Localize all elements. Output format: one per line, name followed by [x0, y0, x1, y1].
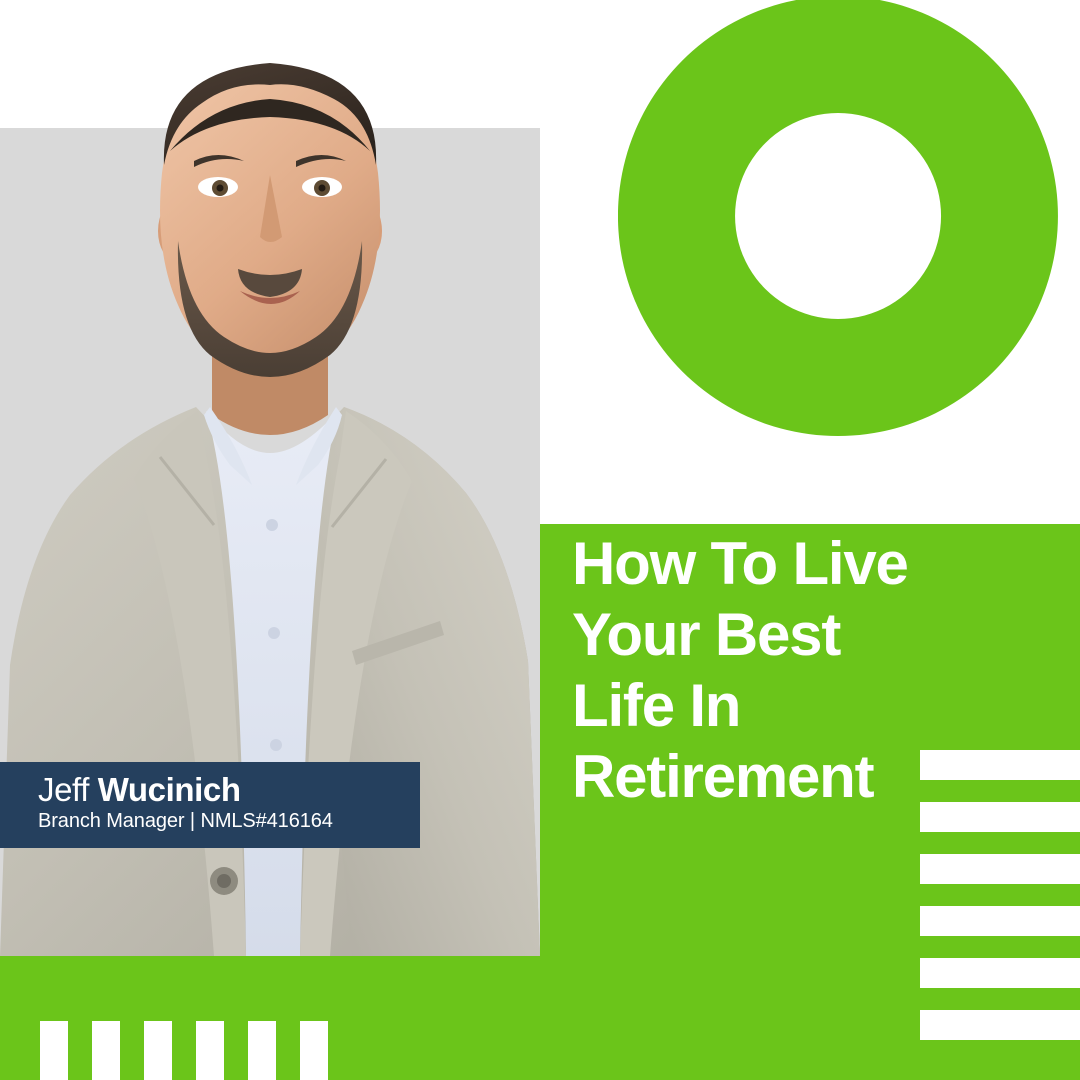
ring-logo-icon: [618, 0, 1058, 436]
stripe-vertical: [300, 1021, 328, 1080]
social-graphic-canvas: Jeff Wucinich Branch Manager | NMLS#4161…: [0, 0, 1080, 1080]
presenter-name: Jeff Wucinich: [38, 771, 420, 809]
stripe-vertical: [248, 1021, 276, 1080]
stripe-vertical: [40, 1021, 68, 1080]
stripe-horizontal: [920, 958, 1080, 988]
presenter-role: Branch Manager | NMLS#416164: [38, 809, 420, 834]
stripe-vertical: [196, 1021, 224, 1080]
stripe-vertical: [92, 1021, 120, 1080]
horizontal-stripe-block: [920, 750, 1080, 1050]
presenter-first-name: Jeff: [38, 771, 98, 808]
stripe-horizontal: [920, 750, 1080, 780]
headline-line-3: Life In: [572, 670, 1042, 741]
name-plate: Jeff Wucinich Branch Manager | NMLS#4161…: [0, 762, 420, 848]
presenter-last-name: Wucinich: [98, 771, 241, 808]
vertical-stripe-block: [40, 1021, 380, 1080]
stripe-vertical: [144, 1021, 172, 1080]
headline-line-2: Your Best: [572, 599, 1042, 670]
stripe-horizontal: [920, 1010, 1080, 1040]
stripe-horizontal: [920, 906, 1080, 936]
stripe-horizontal: [920, 854, 1080, 884]
headline-line-1: How To Live: [572, 528, 1042, 599]
stripe-horizontal: [920, 802, 1080, 832]
